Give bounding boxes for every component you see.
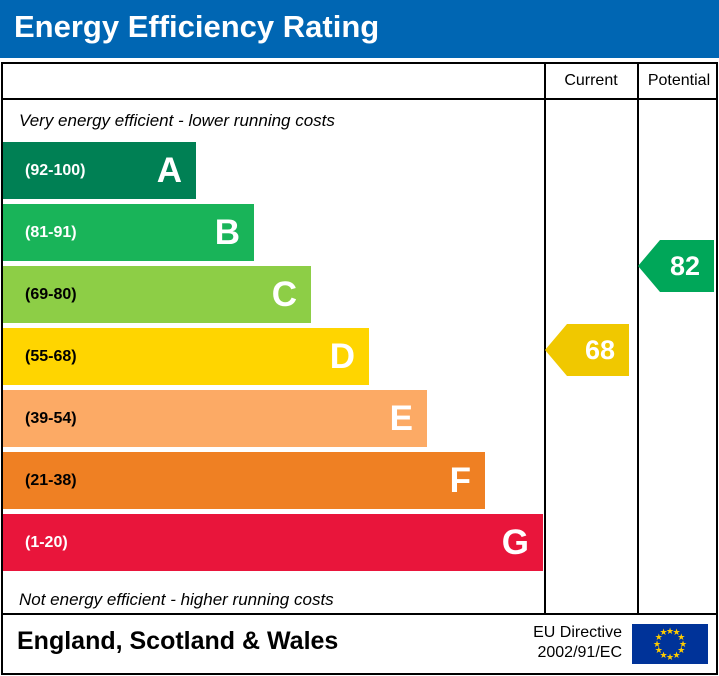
band-b-range: (81-91) [25, 224, 77, 242]
eu-flag-icon: ★★★★★★★★★★★★ [632, 624, 708, 664]
page-title: Energy Efficiency Rating [14, 9, 379, 45]
band-b-letter: B [215, 215, 240, 250]
eu-star-icon: ★ [659, 628, 668, 637]
caption-bottom: Not energy efficient - higher running co… [19, 590, 334, 610]
band-c-range: (69-80) [25, 286, 77, 304]
band-c: (69-80) C [3, 266, 311, 323]
band-d-letter: D [330, 339, 355, 374]
eu-directive-line1: EU Directive [533, 623, 622, 643]
header-potential: Potential [639, 64, 719, 98]
band-g: (1-20) G [3, 514, 543, 571]
band-c-letter: C [272, 277, 297, 312]
band-d: (55-68) D [3, 328, 369, 385]
epc-chart: Energy Efficiency Rating Current Potenti… [0, 0, 719, 676]
band-f: (21-38) F [3, 452, 485, 509]
chart-title-bar: Energy Efficiency Rating [0, 0, 719, 58]
column-divider-current [544, 64, 546, 613]
band-f-range: (21-38) [25, 472, 77, 490]
band-a: (92-100) A [3, 142, 196, 199]
band-e-letter: E [390, 401, 413, 436]
band-g-range: (1-20) [25, 534, 68, 552]
band-e: (39-54) E [3, 390, 427, 447]
band-d-range: (55-68) [25, 348, 77, 366]
chart-footer: England, Scotland & Wales EU Directive 2… [1, 615, 718, 675]
rating-bands: (92-100) A (81-91) B (69-80) C (55-68) D… [3, 142, 543, 576]
band-g-letter: G [502, 525, 529, 560]
band-e-range: (39-54) [25, 410, 77, 428]
column-divider-potential [637, 64, 639, 613]
column-header-row: Current Potential [3, 64, 716, 100]
band-b: (81-91) B [3, 204, 254, 261]
band-f-letter: F [450, 463, 471, 498]
band-a-letter: A [157, 153, 182, 188]
caption-top: Very energy efficient - lower running co… [19, 111, 335, 131]
eu-directive-line2: 2002/91/EC [533, 643, 622, 663]
eu-directive-label: EU Directive 2002/91/EC [533, 623, 622, 663]
header-current: Current [545, 64, 637, 98]
band-a-range: (92-100) [25, 162, 85, 180]
region-label: England, Scotland & Wales [17, 627, 338, 656]
